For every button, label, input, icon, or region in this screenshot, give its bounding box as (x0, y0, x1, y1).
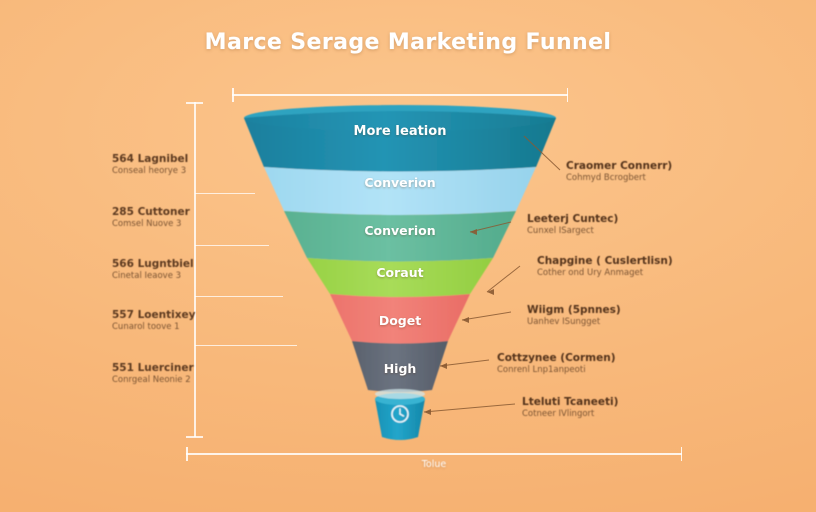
right-annotation-sub-2: Cunxel ISargect (527, 226, 692, 236)
bottom-axis: Tolue (186, 447, 682, 461)
right-annotation-sub-4: Uanhev ISungget (527, 317, 692, 327)
right-annotation-1: Craomer Connerr) Cohmyd Bcrogbert (566, 160, 731, 183)
leader-line-1 (524, 136, 560, 170)
right-annotation-sub-5: Conrenl Lnp1anpeoti (497, 365, 662, 375)
right-annotation-value-2: Leeterj Cuntec) (527, 213, 692, 225)
right-annotation-3: Chapgine ( Cuslertlisn) Cother ond Ury A… (537, 255, 702, 278)
left-stage-label-3: 566 Lugntbiel Cinetal Ieaove 3 (112, 258, 222, 281)
left-stage-sub-1: Conseal heorye 3 (112, 166, 222, 176)
left-stage-sub-5: Conrgeal Neonie 2 (112, 375, 222, 385)
leader-line-6 (424, 404, 515, 412)
left-stage-label-4: 557 Loentixey Cunarol toove 1 (112, 309, 222, 332)
funnel-segment-label-3: Converion (300, 223, 500, 238)
funnel-segment-label-5: Doget (300, 313, 500, 328)
right-annotation-value-3: Chapgine ( Cuslertlisn) (537, 255, 702, 267)
left-stage-label-1: 564 Lagnibel Conseal heorye 3 (112, 153, 222, 176)
left-stage-sub-3: Cinetal Ieaove 3 (112, 271, 222, 281)
right-annotation-value-6: Lteluti Tcaneeti) (522, 396, 687, 408)
top-measurement-bracket (232, 88, 568, 102)
bottom-axis-label: Tolue (186, 459, 682, 470)
chart-title: Marce Serage Marketing Funnel (0, 30, 816, 55)
left-stage-value-5: 551 Luerciner (112, 362, 222, 374)
funnel-cup (375, 399, 425, 440)
funnel-segment-label-1: More Ieation (300, 124, 500, 139)
left-stage-value-4: 557 Loentixey (112, 309, 222, 321)
axis-tick (195, 345, 297, 346)
left-axis-cap-bottom (186, 436, 203, 438)
funnel-segment-label-6: High (300, 361, 500, 376)
leader-arrow-3 (487, 289, 494, 295)
funnel-segment-1 (244, 111, 556, 172)
right-annotation-value-1: Craomer Connerr) (566, 160, 731, 172)
axis-tick (195, 296, 283, 297)
leader-arrow-6 (424, 409, 431, 415)
funnel-segment-label-4: Coraut (300, 265, 500, 280)
left-stage-sub-4: Cunarol toove 1 (112, 322, 222, 332)
funnel-cup-lid (375, 389, 425, 399)
left-stage-value-3: 566 Lugntbiel (112, 258, 222, 270)
bracket-cap-right (567, 88, 569, 102)
funnel-cup-rim (375, 393, 425, 405)
axis-tick (195, 245, 269, 246)
right-annotation-2: Leeterj Cuntec) Cunxel ISargect (527, 213, 692, 236)
left-stage-label-5: 551 Luerciner Conrgeal Neonie 2 (112, 362, 222, 385)
bottom-axis-bar (186, 453, 682, 455)
left-stage-value-2: 285 Cuttoner (112, 206, 222, 218)
axis-tick (195, 193, 255, 194)
right-annotation-sub-6: Cotneer IVlingort (522, 409, 687, 419)
funnel-segment-label-2: Converion (300, 175, 500, 190)
right-annotation-value-4: Wiigm (5pnnes) (527, 304, 692, 316)
right-annotation-4: Wiigm (5pnnes) Uanhev ISungget (527, 304, 692, 327)
left-stage-sub-2: Comsel Nuove 3 (112, 219, 222, 229)
right-annotation-5: Cottzynee (Cormen) Conrenl Lnp1anpeoti (497, 352, 662, 375)
left-axis-cap-top (186, 102, 203, 104)
bracket-bar (232, 94, 568, 96)
bracket-cap-left (232, 88, 234, 102)
left-stage-value-1: 564 Lagnibel (112, 153, 222, 165)
clock-icon (392, 406, 408, 422)
right-annotation-sub-1: Cohmyd Bcrogbert (566, 173, 731, 183)
funnel-segment-1-body (244, 111, 556, 172)
left-stage-label-2: 285 Cuttoner Comsel Nuove 3 (112, 206, 222, 229)
right-annotation-6: Lteluti Tcaneeti) Cotneer IVlingort (522, 396, 687, 419)
right-annotation-sub-3: Cother ond Ury Anmaget (537, 268, 702, 278)
funnel-chart-canvas: Marce Serage Marketing Funnel (0, 0, 816, 512)
right-annotation-value-5: Cottzynee (Cormen) (497, 352, 662, 364)
